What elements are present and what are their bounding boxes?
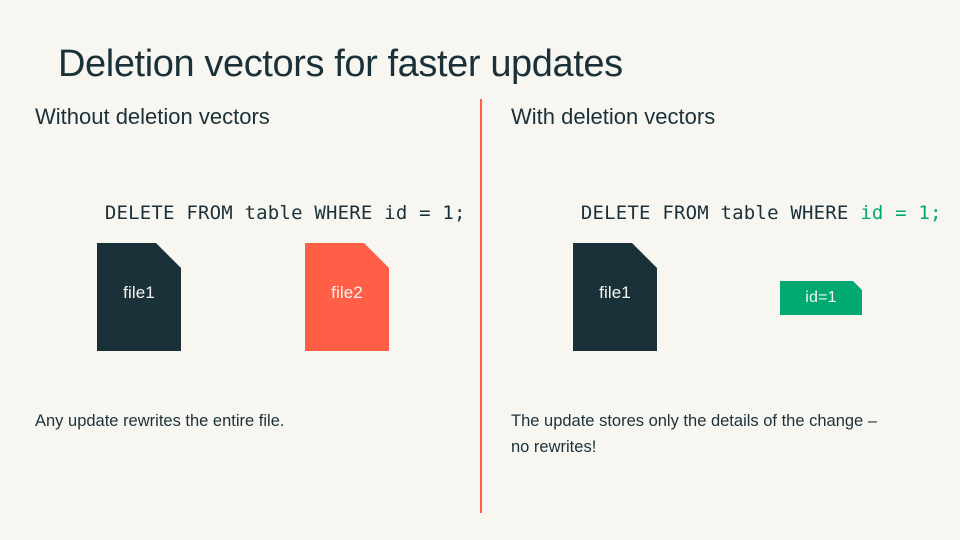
code-text-left: DELETE FROM table WHERE id = 1; xyxy=(105,202,466,224)
file-icon-file1: file1 xyxy=(573,243,657,351)
code-text-right-prefix: DELETE FROM table WHERE xyxy=(581,202,860,224)
deletion-vector-badge: id=1 xyxy=(780,281,862,315)
file-icon-label: file1 xyxy=(123,283,155,303)
file-icon-file2: file2 xyxy=(305,243,389,351)
panel-heading-left: Without deletion vectors xyxy=(35,103,270,131)
panel-with-deletion-vectors: With deletion vectors DELETE FROM table … xyxy=(511,0,951,540)
code-line-right: DELETE FROM table WHERE id = 1; xyxy=(511,174,942,252)
caption-left: Any update rewrites the entire file. xyxy=(35,408,405,434)
figure-row-left: file1 file2 xyxy=(35,243,475,353)
file-icon-file1: file1 xyxy=(97,243,181,351)
slide-canvas: Deletion vectors for faster updates With… xyxy=(0,0,960,540)
caption-right: The update stores only the details of th… xyxy=(511,408,881,460)
file-icon-label: file1 xyxy=(599,283,631,303)
figure-row-right: file1 id=1 xyxy=(511,243,951,353)
deletion-vector-badge-label: id=1 xyxy=(805,289,837,307)
code-text-right-highlight: id = 1; xyxy=(860,202,941,224)
vertical-divider xyxy=(480,99,482,513)
panel-without-deletion-vectors: Without deletion vectors DELETE FROM tab… xyxy=(35,0,475,540)
code-line-left: DELETE FROM table WHERE id = 1; xyxy=(35,174,466,252)
file-icon-label: file2 xyxy=(331,283,363,303)
panel-heading-right: With deletion vectors xyxy=(511,103,715,131)
